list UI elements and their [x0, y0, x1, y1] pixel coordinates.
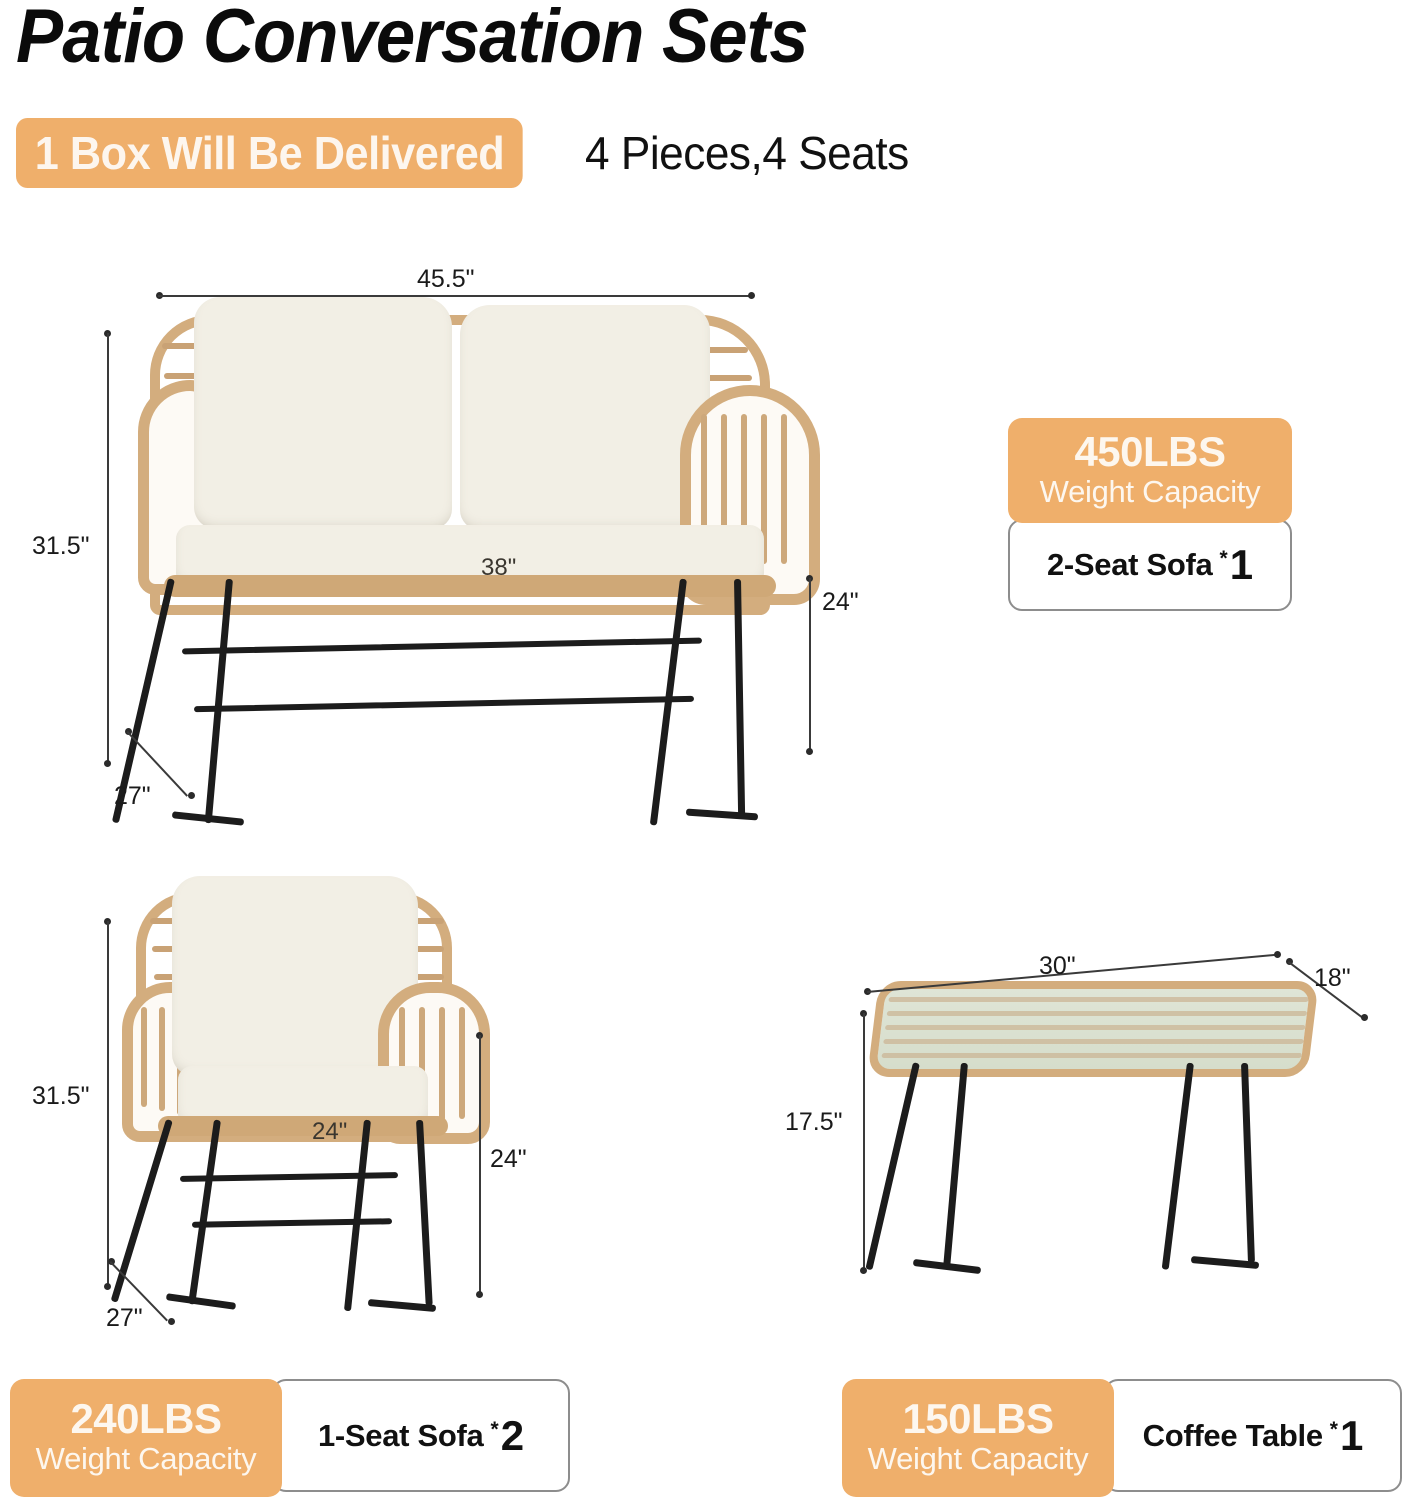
- coffee-table-illustration: [855, 975, 1345, 1305]
- dim-line-loveseat-height: [107, 333, 109, 763]
- dim-dot: [188, 792, 195, 799]
- dim-table-width: 30": [1039, 952, 1076, 981]
- coffee-table-metal-base: [855, 1063, 1345, 1305]
- dim-loveseat-seat-height: 24": [822, 588, 859, 617]
- dim-line-armchair-height: [107, 921, 109, 1286]
- dim-line-loveseat-width: [158, 295, 751, 297]
- dim-armchair-seat-height: 24": [490, 1145, 527, 1174]
- dim-armchair-height: 31.5": [32, 1082, 90, 1111]
- page-title: Patio Conversation Sets: [16, 0, 808, 76]
- item-quantity: 1: [1340, 1415, 1363, 1457]
- loveseat-back-cushion-right: [460, 305, 710, 530]
- weight-capacity-value: 150LBS: [902, 1397, 1053, 1441]
- loveseat-back-cushion-left: [194, 297, 452, 529]
- badge-group-coffee-table: 150LBS Weight Capacity Coffee Table * 1: [842, 1379, 1402, 1497]
- weight-capacity-value: 240LBS: [70, 1397, 221, 1441]
- item-name: 1-Seat Sofa: [318, 1418, 484, 1454]
- item-star: *: [1220, 547, 1228, 571]
- item-card-loveseat: 2-Seat Sofa * 1: [1008, 519, 1292, 611]
- dim-dot: [104, 760, 111, 767]
- item-name: Coffee Table: [1143, 1418, 1323, 1454]
- loveseat-metal-base: [120, 575, 880, 840]
- dim-armchair-seat-width: 24": [312, 1118, 347, 1146]
- item-name: 2-Seat Sofa: [1047, 547, 1213, 583]
- weight-capacity-badge-armchair: 240LBS Weight Capacity: [10, 1379, 282, 1497]
- item-quantity: 2: [501, 1415, 524, 1457]
- item-card-armchair: 1-Seat Sofa * 2: [272, 1379, 570, 1492]
- dim-line-loveseat-seat-height: [809, 578, 811, 750]
- weight-capacity-label: Weight Capacity: [868, 1441, 1089, 1477]
- dim-dot: [476, 1291, 483, 1298]
- badge-group-armchair: 240LBS Weight Capacity 1-Seat Sofa * 2: [10, 1379, 570, 1497]
- armchair-metal-base: [110, 1116, 530, 1321]
- dim-dot: [860, 1267, 867, 1274]
- dim-loveseat-height: 31.5": [32, 532, 90, 561]
- weight-capacity-value: 450LBS: [1074, 430, 1225, 474]
- item-star: *: [1330, 1418, 1338, 1442]
- item-quantity: 1: [1230, 544, 1253, 586]
- dim-dot: [806, 748, 813, 755]
- dim-loveseat-depth: 27": [114, 782, 151, 811]
- dim-dot: [1274, 951, 1281, 958]
- weight-capacity-label: Weight Capacity: [1040, 474, 1261, 510]
- badge-group-loveseat: 450LBS Weight Capacity 2-Seat Sofa * 1: [1008, 418, 1292, 611]
- dim-line-armchair-seat-height: [479, 1035, 481, 1293]
- weight-capacity-badge-loveseat: 450LBS Weight Capacity: [1008, 418, 1292, 523]
- subtitle-row: 1 Box Will Be Delivered 4 Pieces,4 Seats: [16, 118, 923, 188]
- dim-table-depth: 18": [1314, 964, 1351, 993]
- item-star: *: [491, 1418, 499, 1442]
- weight-capacity-badge-coffee-table: 150LBS Weight Capacity: [842, 1379, 1114, 1497]
- dim-dot: [168, 1318, 175, 1325]
- delivery-badge: 1 Box Will Be Delivered: [16, 118, 523, 188]
- dim-table-height: 17.5": [785, 1108, 843, 1137]
- dim-line-table-height: [863, 1013, 865, 1269]
- armchair-illustration: [110, 870, 530, 1320]
- dim-dot: [104, 1283, 111, 1290]
- dim-loveseat-width: 45.5": [417, 265, 475, 294]
- dim-dot: [1361, 1014, 1368, 1021]
- item-card-coffee-table: Coffee Table * 1: [1104, 1379, 1402, 1492]
- dim-loveseat-seat-width: 38": [481, 554, 516, 582]
- pieces-seats-label: 4 Pieces,4 Seats: [585, 126, 909, 180]
- coffee-table-rattan-slats: [876, 989, 1310, 1069]
- dim-dot: [748, 292, 755, 299]
- weight-capacity-label: Weight Capacity: [36, 1441, 257, 1477]
- dim-armchair-depth: 27": [106, 1304, 143, 1333]
